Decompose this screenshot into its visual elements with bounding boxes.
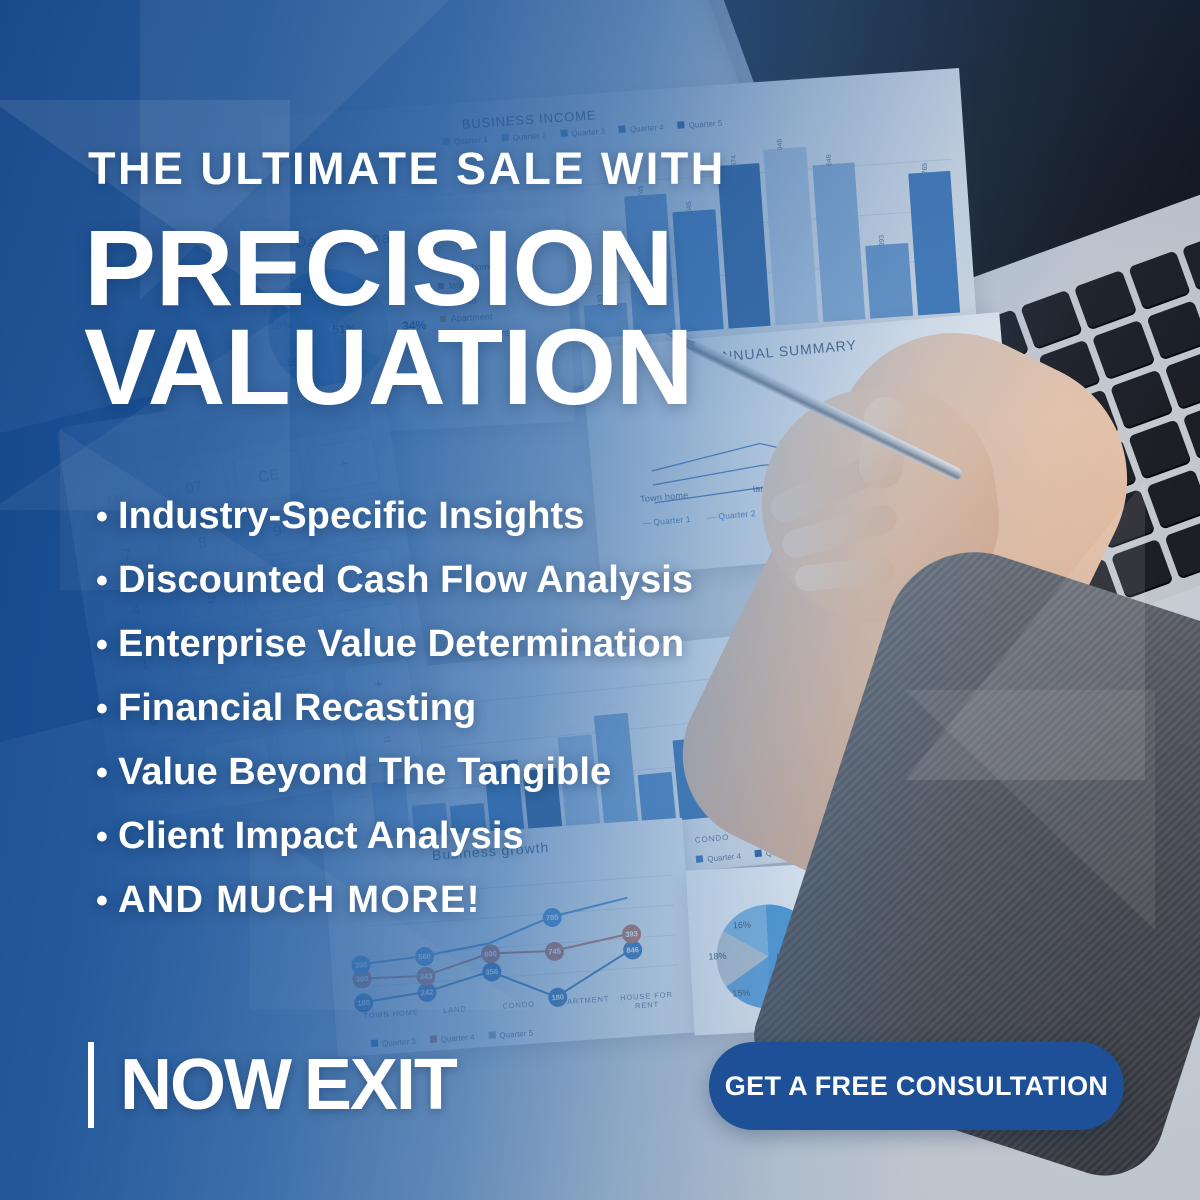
feature-list-item: •Client Impact Analysis [96, 817, 896, 855]
feature-list-item: •AND MUCH MORE! [96, 881, 896, 919]
feature-list-item: •Value Beyond The Tangible [96, 753, 896, 791]
bullet-marker-icon: • [96, 756, 118, 790]
page-title: PRECISION VALUATION [84, 218, 693, 417]
headline-line-2: VALUATION [84, 317, 693, 416]
get-free-consultation-button[interactable]: GET A FREE CONSULTATION [709, 1042, 1124, 1130]
bullet-marker-icon: • [96, 692, 118, 726]
feature-list-item-label: Discounted Cash Flow Analysis [118, 561, 693, 599]
feature-list: •Industry-Specific Insights•Discounted C… [96, 497, 896, 945]
logo-word-now: NOW [120, 1045, 290, 1125]
headline-eyebrow: THE ULTIMATE SALE WITH [88, 146, 726, 191]
bullet-marker-icon: • [96, 884, 118, 918]
feature-list-item-label: Client Impact Analysis [118, 817, 524, 855]
bullet-marker-icon: • [96, 820, 118, 854]
feature-list-item-label: Value Beyond The Tangible [118, 753, 611, 791]
promo-poster: BUSINESS INCOME Quarter 1 Quarter 2 Quar… [0, 0, 1200, 1200]
poster-content: THE ULTIMATE SALE WITH PRECISION VALUATI… [0, 0, 1200, 1200]
feature-list-item-label: Enterprise Value Determination [118, 625, 684, 663]
feature-list-item: •Enterprise Value Determination [96, 625, 896, 663]
feature-list-item: •Financial Recasting [96, 689, 896, 727]
feature-list-item-label: AND MUCH MORE! [118, 881, 481, 919]
feature-list-item: •Discounted Cash Flow Analysis [96, 561, 896, 599]
logo-wordmark: NOWEXIT [120, 1049, 456, 1121]
brand-logo[interactable]: NOWEXIT [88, 1042, 456, 1128]
bullet-marker-icon: • [96, 628, 118, 662]
feature-list-item: •Industry-Specific Insights [96, 497, 896, 535]
bullet-marker-icon: • [96, 564, 118, 598]
bullet-marker-icon: • [96, 500, 118, 534]
logo-word-exit: EXIT [304, 1045, 456, 1125]
feature-list-item-label: Industry-Specific Insights [118, 497, 585, 535]
logo-divider-bar [88, 1042, 94, 1128]
feature-list-item-label: Financial Recasting [118, 689, 476, 727]
